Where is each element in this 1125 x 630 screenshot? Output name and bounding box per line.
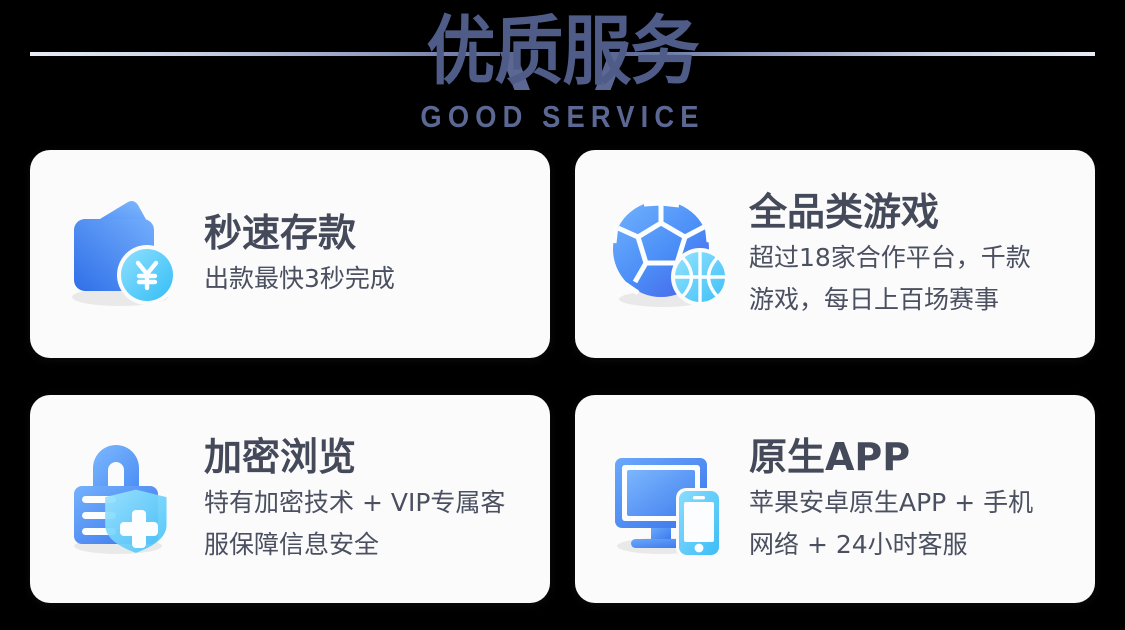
card-title: 全品类游戏	[749, 189, 1077, 235]
service-card-instant-deposit[interactable]: 秒速存款 出款最快3秒完成	[30, 150, 550, 358]
card-subtitle-line: 出款最快3秒完成	[204, 260, 532, 298]
card-title: 原生APP	[749, 434, 1077, 480]
card-subtitle-line: 服保障信息安全	[204, 526, 532, 564]
card-subtitle-line: 游戏，每日上百场赛事	[749, 281, 1077, 319]
card-subtitle-line: 苹果安卓原生APP + 手机	[749, 484, 1077, 522]
card-text-block: 秒速存款 出款最快3秒完成	[204, 210, 532, 298]
page-title: 优质服务	[45, 6, 1080, 96]
lock-shield-icon	[60, 434, 190, 564]
card-text-block: 原生APP 苹果安卓原生APP + 手机 网络 + 24小时客服	[749, 434, 1077, 564]
card-subtitle-line: 特有加密技术 + VIP专属客	[204, 484, 532, 522]
monitor-phone-icon	[605, 434, 735, 564]
service-card-grid: 秒速存款 出款最快3秒完成	[30, 150, 1095, 600]
soccer-basketball-icon	[605, 189, 735, 319]
service-card-native-app[interactable]: 原生APP 苹果安卓原生APP + 手机 网络 + 24小时客服	[575, 395, 1095, 603]
wallet-coin-icon	[60, 189, 190, 319]
card-title: 秒速存款	[204, 210, 532, 256]
card-title: 加密浏览	[204, 434, 532, 480]
service-card-all-games[interactable]: 全品类游戏 超过18家合作平台，千款 游戏，每日上百场赛事	[575, 150, 1095, 358]
card-subtitle-line: 超过18家合作平台，千款	[749, 239, 1077, 277]
service-card-encrypted-browsing[interactable]: 加密浏览 特有加密技术 + VIP专属客 服保障信息安全	[30, 395, 550, 603]
card-subtitle-line: 网络 + 24小时客服	[749, 526, 1077, 564]
card-text-block: 全品类游戏 超过18家合作平台，千款 游戏，每日上百场赛事	[749, 189, 1077, 319]
card-text-block: 加密浏览 特有加密技术 + VIP专属客 服保障信息安全	[204, 434, 532, 564]
page-subtitle: GOOD SERVICE	[68, 100, 1058, 134]
page-header: 优质服务 GOOD SERVICE	[0, 0, 1125, 140]
